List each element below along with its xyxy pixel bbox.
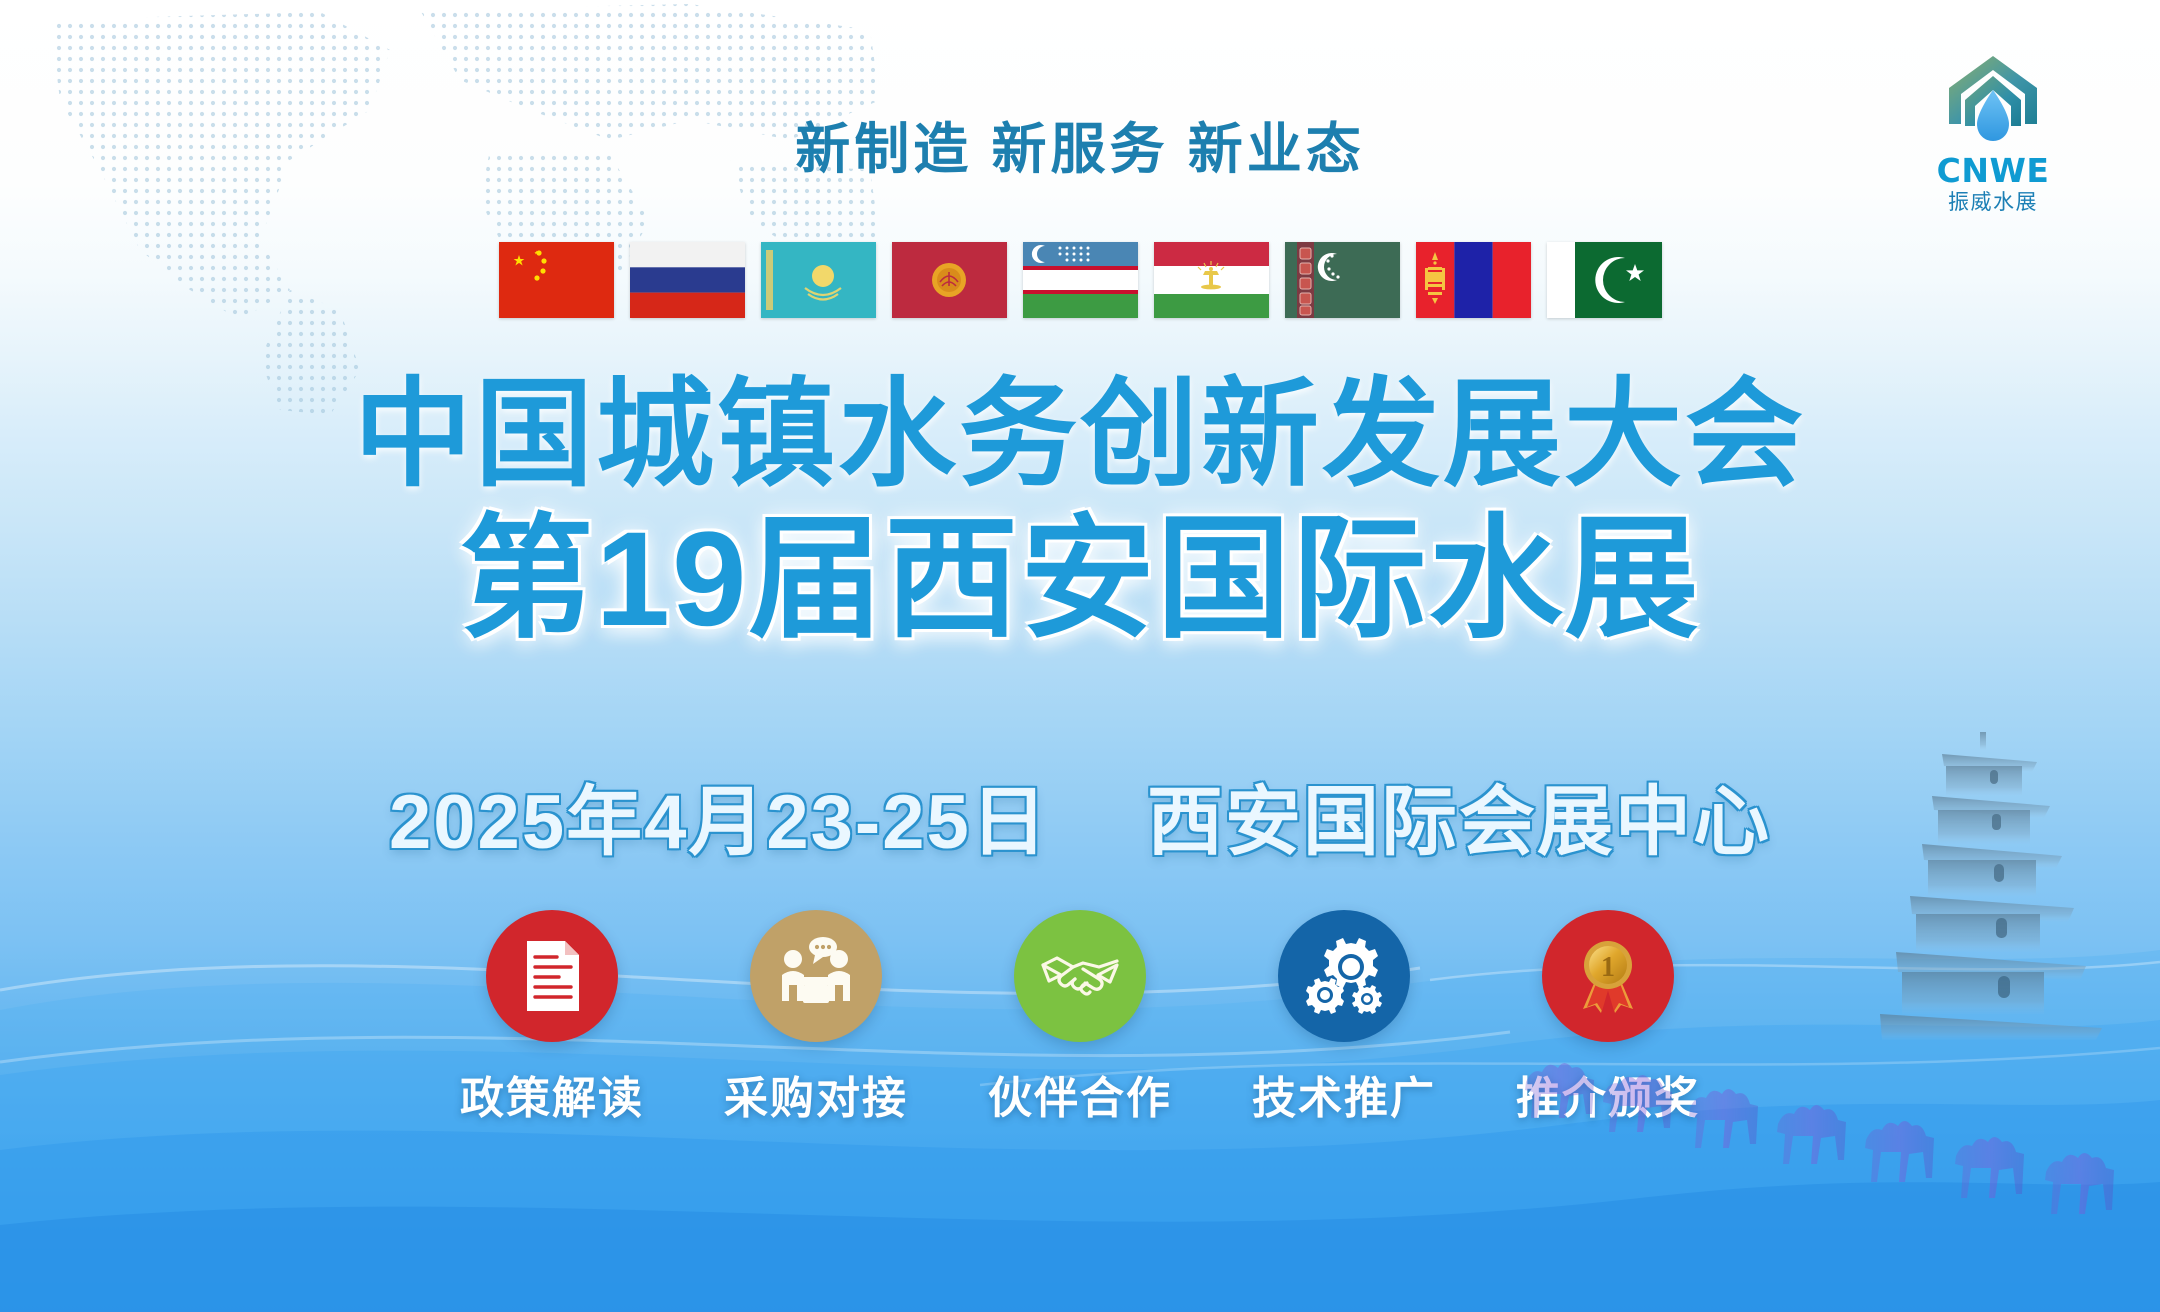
- feature-policy-interpretation[interactable]: 政策解读: [454, 910, 650, 1126]
- feature-partner-cooperation[interactable]: 伙伴合作: [982, 910, 1178, 1126]
- event-date: 2025年4月23-25日: [389, 780, 1049, 865]
- kazakhstan-flag: [761, 242, 876, 318]
- page-title-sub: 第19届西安国际水展: [0, 508, 2160, 653]
- handshake-icon: [1037, 933, 1123, 1019]
- event-date-venue: 2025年4月23-25日 西安国际会展中心: [0, 760, 2160, 870]
- china-flag: [499, 242, 614, 318]
- feature-procurement-matchmaking[interactable]: 采购对接: [718, 910, 914, 1126]
- mongolia-flag: [1416, 242, 1531, 318]
- uzbekistan-flag: [1023, 242, 1138, 318]
- feature-icon-circle: [1278, 910, 1410, 1042]
- document-icon: [509, 933, 595, 1019]
- feature-icon-circle: [750, 910, 882, 1042]
- feature-label: 推介颁奖: [1510, 1062, 1706, 1126]
- feature-label: 采购对接: [718, 1062, 914, 1126]
- pakistan-flag: [1547, 242, 1662, 318]
- svg-text:1: 1: [1601, 952, 1615, 983]
- award-medal-icon: 1: [1565, 933, 1651, 1019]
- feature-label: 政策解读: [454, 1062, 650, 1126]
- meeting-people-icon: [773, 933, 859, 1019]
- feature-label: 伙伴合作: [982, 1062, 1178, 1126]
- tagline: 新制造 新服务 新业态: [0, 104, 2160, 184]
- feature-icon-circle: [1014, 910, 1146, 1042]
- feature-technology-promotion[interactable]: 技术推广: [1246, 910, 1442, 1126]
- feature-promotion-award[interactable]: 1 推介颁奖: [1510, 910, 1706, 1126]
- event-venue: 西安国际会展中心: [1147, 780, 1771, 865]
- page-title-main: 中国城镇水务创新发展大会: [0, 372, 2160, 499]
- russia-flag: [630, 242, 745, 318]
- event-promo-banner: CNWE 振威水展 新制造 新服务 新业态: [0, 0, 2160, 1312]
- feature-highlights: 政策解读: [0, 910, 2160, 1126]
- gears-icon: [1301, 933, 1387, 1019]
- feature-icon-circle: 1: [1542, 910, 1674, 1042]
- feature-icon-circle: [486, 910, 618, 1042]
- feature-label: 技术推广: [1246, 1062, 1442, 1126]
- turkmenistan-flag: [1285, 242, 1400, 318]
- dotted-world-map-decor: [0, 0, 890, 420]
- tajikistan-flag: [1154, 242, 1269, 318]
- logo-subtitle: 振威水展: [1918, 190, 2068, 216]
- participating-country-flags: [0, 242, 2160, 318]
- kyrgyzstan-flag: [892, 242, 1007, 318]
